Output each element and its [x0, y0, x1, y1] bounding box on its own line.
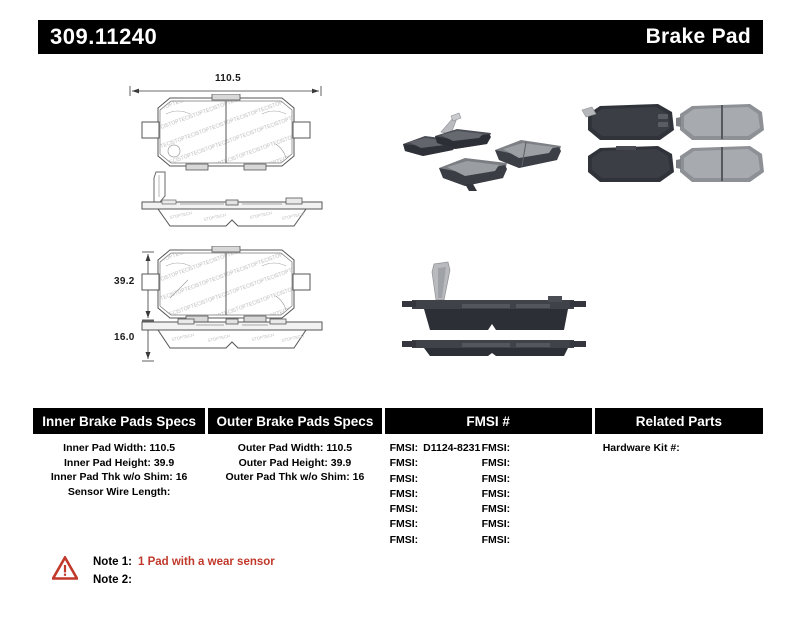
specs-table-body-row: Inner Pad Width: 110.5 Inner Pad Height:… — [33, 434, 763, 548]
fmsi-column-left: FMSI:D1124-8231 FMSI: FMSI: FMSI: FMSI: — [390, 441, 482, 548]
related-part-row: Hardware Kit #: — [595, 441, 763, 456]
note-row: Note 2: — [93, 571, 275, 589]
pad-side-view-with-sensor-drawing: STOPTECH STOPTECH STOPTECH STOPTECH — [132, 170, 332, 232]
fmsi-label: FMSI: — [482, 503, 511, 515]
note-label: Note 2: — [93, 574, 132, 586]
spec-line: Inner Pad Width: 110.5 — [33, 441, 205, 456]
fmsi-label: FMSI: — [390, 473, 419, 485]
product-photo-pad-set-grid — [580, 100, 765, 200]
notes-list: Note 1:1 Pad with a wear sensor Note 2: — [93, 553, 275, 589]
note-row: Note 1:1 Pad with a wear sensor — [93, 553, 275, 571]
fmsi-label: FMSI: — [390, 534, 419, 546]
dimension-width-label: 110.5 — [215, 73, 241, 84]
column-header-related-parts: Related Parts — [595, 408, 763, 434]
fmsi-row: FMSI: — [390, 456, 482, 471]
specs-table-header-row: Inner Brake Pads Specs Outer Brake Pads … — [33, 408, 763, 434]
spec-line: Outer Pad Height: 39.9 — [208, 456, 381, 471]
fmsi-row: FMSI: — [482, 472, 574, 487]
pad-side-view-drawing: STOPTECH STOPTECH STOPTECH STOPTECH — [132, 318, 332, 364]
product-photo-side-pair — [398, 256, 588, 356]
pad-plan-view-drawing-secondary — [126, 246, 326, 328]
spec-line: Inner Pad Height: 39.9 — [33, 456, 205, 471]
column-header-outer-specs: Outer Brake Pads Specs — [208, 408, 381, 434]
product-type-label: Brake Pad — [646, 25, 751, 49]
drawing-area: 110.5 STOPTECH — [0, 60, 800, 390]
fmsi-label: FMSI: — [482, 473, 511, 485]
fmsi-row: FMSI: — [482, 487, 574, 502]
fmsi-label: FMSI: — [390, 488, 419, 500]
fmsi-row: FMSI: — [482, 456, 574, 471]
pad-plan-view-drawing: STOPTECH — [126, 94, 326, 176]
fmsi-label: FMSI: — [390, 457, 419, 469]
warning-triangle-icon — [52, 556, 78, 580]
fmsi-row: FMSI: — [390, 533, 482, 548]
fmsi-label: FMSI: — [482, 518, 511, 530]
fmsi-label: FMSI: — [390, 518, 419, 530]
spec-line: Outer Pad Thk w/o Shim: 16 — [208, 470, 381, 485]
spec-line: Inner Pad Thk w/o Shim: 16 — [33, 470, 205, 485]
note-label: Note 1: — [93, 556, 132, 568]
outer-specs-cell: Outer Pad Width: 110.5 Outer Pad Height:… — [208, 434, 381, 548]
fmsi-row: FMSI: — [482, 517, 574, 532]
product-photo-angled-set — [395, 96, 570, 206]
fmsi-label: FMSI: — [390, 442, 419, 454]
related-parts-cell: Hardware Kit #: — [595, 434, 763, 548]
fmsi-row: FMSI: — [390, 517, 482, 532]
fmsi-label: FMSI: — [482, 457, 511, 469]
fmsi-row: FMSI:D1124-8231 — [390, 441, 482, 456]
fmsi-label: FMSI: — [390, 503, 419, 515]
fmsi-column-right: FMSI: FMSI: FMSI: FMSI: FMSI: — [482, 441, 574, 548]
fmsi-label: FMSI: — [482, 534, 511, 546]
spec-line: Sensor Wire Length: — [33, 485, 205, 500]
fmsi-row: FMSI: — [482, 533, 574, 548]
fmsi-label: FMSI: — [482, 442, 511, 454]
fmsi-cell: FMSI:D1124-8231 FMSI: FMSI: FMSI: FMSI: — [385, 434, 592, 548]
title-bar: 309.11240 Brake Pad — [38, 20, 763, 54]
fmsi-row: FMSI: — [482, 441, 574, 456]
part-number: 309.11240 — [50, 24, 157, 50]
specs-table: Inner Brake Pads Specs Outer Brake Pads … — [33, 408, 763, 548]
spec-line: Outer Pad Width: 110.5 — [208, 441, 381, 456]
fmsi-row: FMSI: — [390, 472, 482, 487]
fmsi-row: FMSI: — [390, 487, 482, 502]
note-value: 1 Pad with a wear sensor — [138, 556, 275, 568]
fmsi-value: D1124-8231 — [423, 442, 480, 454]
column-header-fmsi: FMSI # — [385, 408, 592, 434]
fmsi-label: FMSI: — [482, 488, 511, 500]
inner-specs-cell: Inner Pad Width: 110.5 Inner Pad Height:… — [33, 434, 205, 548]
column-header-inner-specs: Inner Brake Pads Specs — [33, 408, 205, 434]
fmsi-row: FMSI: — [482, 502, 574, 517]
notes-section: Note 1:1 Pad with a wear sensor Note 2: — [52, 553, 275, 589]
fmsi-row: FMSI: — [390, 502, 482, 517]
